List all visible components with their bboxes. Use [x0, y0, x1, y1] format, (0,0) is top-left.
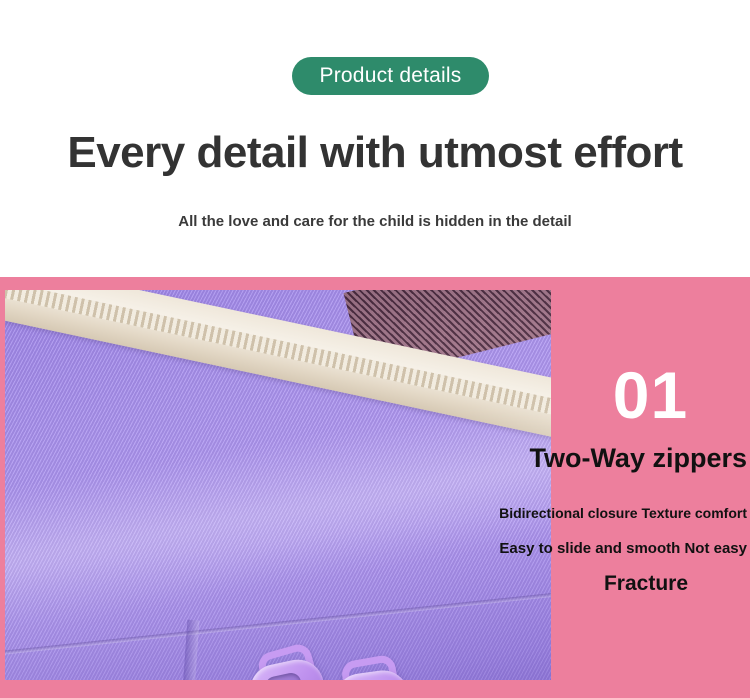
header-section: Product details Every detail with utmost…	[0, 0, 750, 277]
product-detail-page: Product details Every detail with utmost…	[0, 0, 750, 698]
zipper-photo	[5, 290, 551, 680]
feature-title: Two-Way zippers	[500, 443, 747, 474]
feature-description-line-3: Fracture	[551, 572, 741, 596]
page-subheadline: All the love and care for the child is h…	[0, 213, 750, 230]
feature-description-line-1: Bidirectional closure Texture comfort	[450, 505, 747, 521]
page-headline: Every detail with utmost effort	[0, 128, 750, 178]
slider-hole-left	[264, 671, 303, 680]
product-details-badge: Product details	[292, 57, 489, 95]
feature-number: 01	[551, 362, 750, 428]
badge-label: Product details	[320, 64, 462, 88]
feature-description-line-2: Easy to slide and smooth Not easy	[450, 540, 747, 557]
